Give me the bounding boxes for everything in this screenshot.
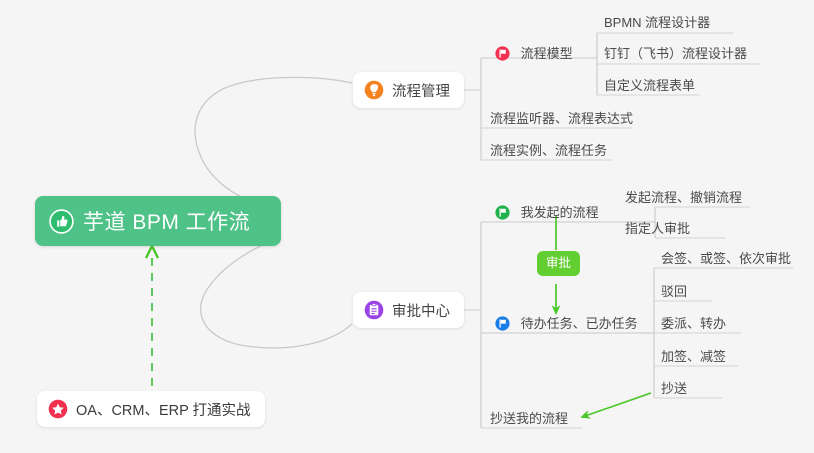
leaf-label: 自定义流程表单 <box>604 78 695 93</box>
leaf-label: 我发起的流程 <box>521 205 599 220</box>
node-label: OA、CRM、ERP 打通实战 <box>76 399 251 420</box>
leaf-label: 指定人审批 <box>625 221 690 236</box>
leaf-cc-to-me[interactable]: 抄送我的流程 <box>490 411 568 425</box>
leaf-my-initiated-process[interactable]: 我发起的流程 <box>495 205 599 220</box>
leaf-label: 流程模型 <box>521 46 573 61</box>
leaf-countersign[interactable]: 会签、或签、依次审批 <box>661 251 791 265</box>
leaf-label: 流程监听器、流程表达式 <box>490 111 633 126</box>
leaf-label: 抄送我的流程 <box>490 411 568 426</box>
mindmap-canvas: 芋道 BPM 工作流 流程管理 流程模型 BPMN 流程设计器 钉钉（飞书）流程 <box>0 0 814 453</box>
leaf-add-remove-sign[interactable]: 加签、减签 <box>661 349 726 363</box>
flag-icon <box>495 316 510 331</box>
leaf-bpmn-designer[interactable]: BPMN 流程设计器 <box>604 15 710 29</box>
leaf-process-model[interactable]: 流程模型 <box>495 46 573 61</box>
node-oa-crm-erp[interactable]: OA、CRM、ERP 打通实战 <box>37 391 265 427</box>
lightbulb-icon <box>364 80 384 100</box>
branch-label: 审批中心 <box>392 300 450 321</box>
leaf-cc[interactable]: 抄送 <box>661 381 687 395</box>
flag-icon <box>495 205 510 220</box>
leaf-delegate-transfer[interactable]: 委派、转办 <box>661 316 726 330</box>
leaf-dingtalk-designer[interactable]: 钉钉（飞书）流程设计器 <box>604 46 747 60</box>
branch-approval-center[interactable]: 审批中心 <box>353 292 464 328</box>
approval-annotation-chip: 审批 <box>537 251 580 276</box>
leaf-label: 钉钉（飞书）流程设计器 <box>604 46 747 61</box>
leaf-label: 抄送 <box>661 381 687 396</box>
leaf-label: 待办任务、已办任务 <box>521 316 638 331</box>
leaf-assignee-approval[interactable]: 指定人审批 <box>625 221 690 235</box>
leaf-label: 流程实例、流程任务 <box>490 143 607 158</box>
leaf-process-instance[interactable]: 流程实例、流程任务 <box>490 143 607 157</box>
root-node[interactable]: 芋道 BPM 工作流 <box>35 196 281 246</box>
leaf-label: BPMN 流程设计器 <box>604 15 710 30</box>
leaf-label: 会签、或签、依次审批 <box>661 251 791 266</box>
root-label: 芋道 BPM 工作流 <box>83 206 250 236</box>
leaf-custom-form[interactable]: 自定义流程表单 <box>604 78 695 92</box>
chip-label: 审批 <box>546 256 571 270</box>
branch-label: 流程管理 <box>392 80 450 101</box>
flag-icon <box>495 46 510 61</box>
leaf-label: 委派、转办 <box>661 316 726 331</box>
leaf-label: 发起流程、撤销流程 <box>625 190 742 205</box>
leaf-process-listener[interactable]: 流程监听器、流程表达式 <box>490 111 633 125</box>
thumbs-up-icon <box>49 209 74 234</box>
leaf-todo-done-tasks[interactable]: 待办任务、已办任务 <box>495 316 638 331</box>
leaf-start-cancel-process[interactable]: 发起流程、撤销流程 <box>625 190 742 204</box>
clipboard-icon <box>364 300 384 320</box>
leaf-label: 驳回 <box>661 284 687 299</box>
leaf-label: 加签、减签 <box>661 349 726 364</box>
star-icon <box>48 399 68 419</box>
leaf-reject[interactable]: 驳回 <box>661 284 687 298</box>
branch-process-management[interactable]: 流程管理 <box>353 72 464 108</box>
